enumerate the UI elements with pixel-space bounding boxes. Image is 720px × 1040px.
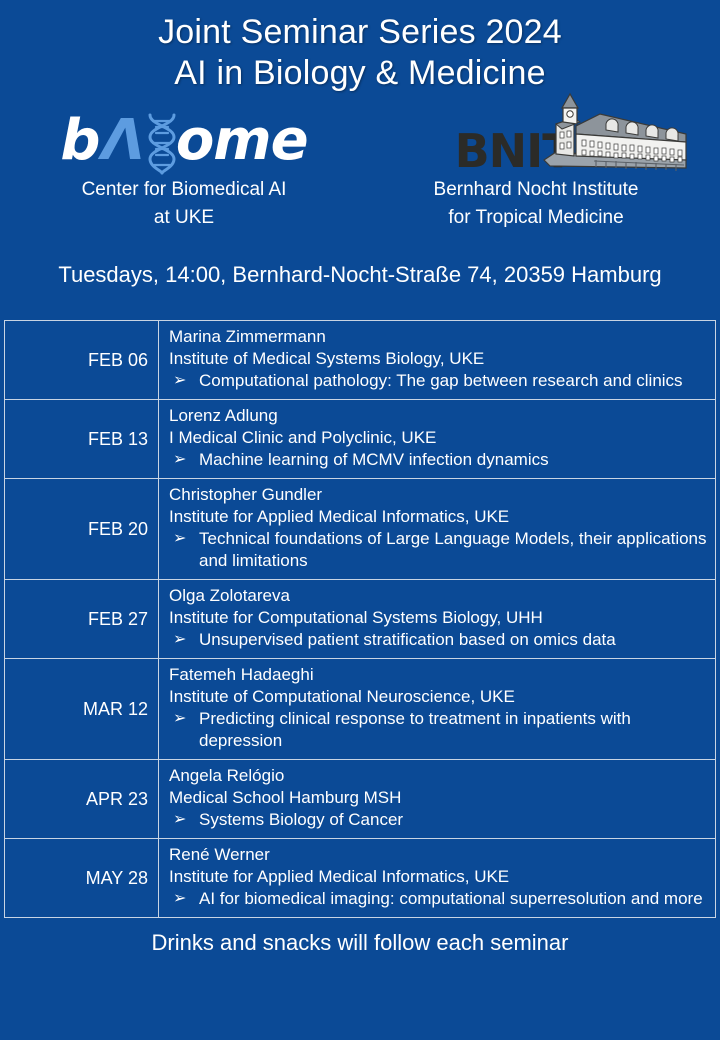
seminar-details: René WernerInstitute for Applied Medical… [159,839,716,918]
seminar-topic-item: ➢Predicting clinical response to treatme… [169,708,707,752]
venue-line: Tuesdays, 14:00, Bernhard-Nocht-Straße 7… [0,262,720,288]
speaker-affiliation: Institute of Medical Systems Biology, UK… [169,348,707,370]
speaker-affiliation: Institute of Computational Neuroscience,… [169,686,707,708]
speaker-affiliation: Institute for Applied Medical Informatic… [169,506,707,528]
speaker-name: René Werner [169,844,707,866]
baiome-letters-ome: ome [176,113,308,169]
title-line-2: AI in Biology & Medicine [0,53,720,94]
seminar-details: Marina ZimmermannInstitute of Medical Sy… [159,321,716,400]
bnitm-wordmark-row: BNITM [366,108,706,174]
table-row: APR 23Angela RelógioMedical School Hambu… [5,760,716,839]
speaker-affiliation: Institute for Computational Systems Biol… [169,607,707,629]
bullet-arrow-icon: ➢ [173,708,186,730]
speaker-name: Olga Zolotareva [169,585,707,607]
logo-row: bΛ [0,94,720,230]
bullet-arrow-icon: ➢ [173,888,186,910]
dna-helix-svg [142,113,182,175]
table-row: FEB 13Lorenz AdlungI Medical Clinic and … [5,400,716,479]
schedule-table-body: FEB 06Marina ZimmermannInstitute of Medi… [5,321,716,918]
table-row: FEB 20Christopher GundlerInstitute for A… [5,479,716,580]
seminar-topic-text: Technical foundations of Large Language … [199,529,707,570]
speaker-name: Marina Zimmermann [169,326,707,348]
seminar-poster: Joint Seminar Series 2024 AI in Biology … [0,0,720,1040]
seminar-topic-text: AI for biomedical imaging: computational… [199,889,703,908]
baiome-caption-line-1: Center for Biomedical AI [14,178,354,202]
seminar-details: Fatemeh HadaeghiInstitute of Computation… [159,659,716,760]
table-row: MAY 28René WernerInstitute for Applied M… [5,839,716,918]
seminar-date: FEB 06 [5,321,159,400]
table-row: FEB 27Olga ZolotarevaInstitute for Compu… [5,580,716,659]
speaker-affiliation: Institute for Applied Medical Informatic… [169,866,707,888]
speaker-affiliation: Medical School Hamburg MSH [169,787,707,809]
speaker-name: Angela Relógio [169,765,707,787]
seminar-topic-text: Predicting clinical response to treatmen… [199,709,631,750]
bullet-arrow-icon: ➢ [173,449,186,471]
title-line-1: Joint Seminar Series 2024 [0,12,720,53]
seminar-topic-item: ➢Computational pathology: The gap betwee… [169,370,707,392]
speaker-name: Lorenz Adlung [169,405,707,427]
table-row: MAR 12Fatemeh HadaeghiInstitute of Compu… [5,659,716,760]
bnitm-caption-line-1: Bernhard Nocht Institute [366,178,706,202]
seminar-topic-item: ➢AI for biomedical imaging: computationa… [169,888,707,910]
bullet-arrow-icon: ➢ [173,528,186,550]
bullet-arrow-icon: ➢ [173,629,186,651]
seminar-topic-text: Unsupervised patient stratification base… [199,630,616,649]
seminar-details: Lorenz AdlungI Medical Clinic and Polycl… [159,400,716,479]
seminar-date: MAY 28 [5,839,159,918]
seminar-topic-text: Computational pathology: The gap between… [199,371,683,390]
seminar-date: FEB 13 [5,400,159,479]
page-title: Joint Seminar Series 2024 AI in Biology … [0,0,720,94]
seminar-topic-text: Systems Biology of Cancer [199,810,403,829]
seminar-topic-item: ➢Technical foundations of Large Language… [169,528,707,572]
seminar-details: Angela RelógioMedical School Hamburg MSH… [159,760,716,839]
seminar-date: FEB 27 [5,580,159,659]
bnitm-logo: BNITM [366,108,706,230]
baiome-wordmark: bΛ [14,108,354,174]
baiome-letter-b: b [60,113,99,169]
schedule-table: FEB 06Marina ZimmermannInstitute of Medi… [4,320,716,918]
seminar-details: Christopher GundlerInstitute for Applied… [159,479,716,580]
seminar-topic-item: ➢Unsupervised patient stratification bas… [169,629,707,651]
seminar-topic-item: ➢Machine learning of MCMV infection dyna… [169,449,707,471]
footer-note: Drinks and snacks will follow each semin… [0,929,720,957]
seminar-topic-text: Machine learning of MCMV infection dynam… [199,450,549,469]
bnitm-building-icon [540,90,690,176]
baiome-lambda: Λ [99,113,145,169]
baiome-logo: bΛ [14,108,354,230]
seminar-date: FEB 20 [5,479,159,580]
table-row: FEB 06Marina ZimmermannInstitute of Medi… [5,321,716,400]
bnitm-caption-line-2: for Tropical Medicine [366,206,706,230]
seminar-details: Olga ZolotarevaInstitute for Computation… [159,580,716,659]
seminar-date: APR 23 [5,760,159,839]
bullet-arrow-icon: ➢ [173,809,186,831]
speaker-name: Christopher Gundler [169,484,707,506]
bullet-arrow-icon: ➢ [173,370,186,392]
baiome-caption-line-2: at UKE [14,206,354,230]
seminar-date: MAR 12 [5,659,159,760]
speaker-name: Fatemeh Hadaeghi [169,664,707,686]
seminar-topic-item: ➢Systems Biology of Cancer [169,809,707,831]
speaker-affiliation: I Medical Clinic and Polyclinic, UKE [169,427,707,449]
